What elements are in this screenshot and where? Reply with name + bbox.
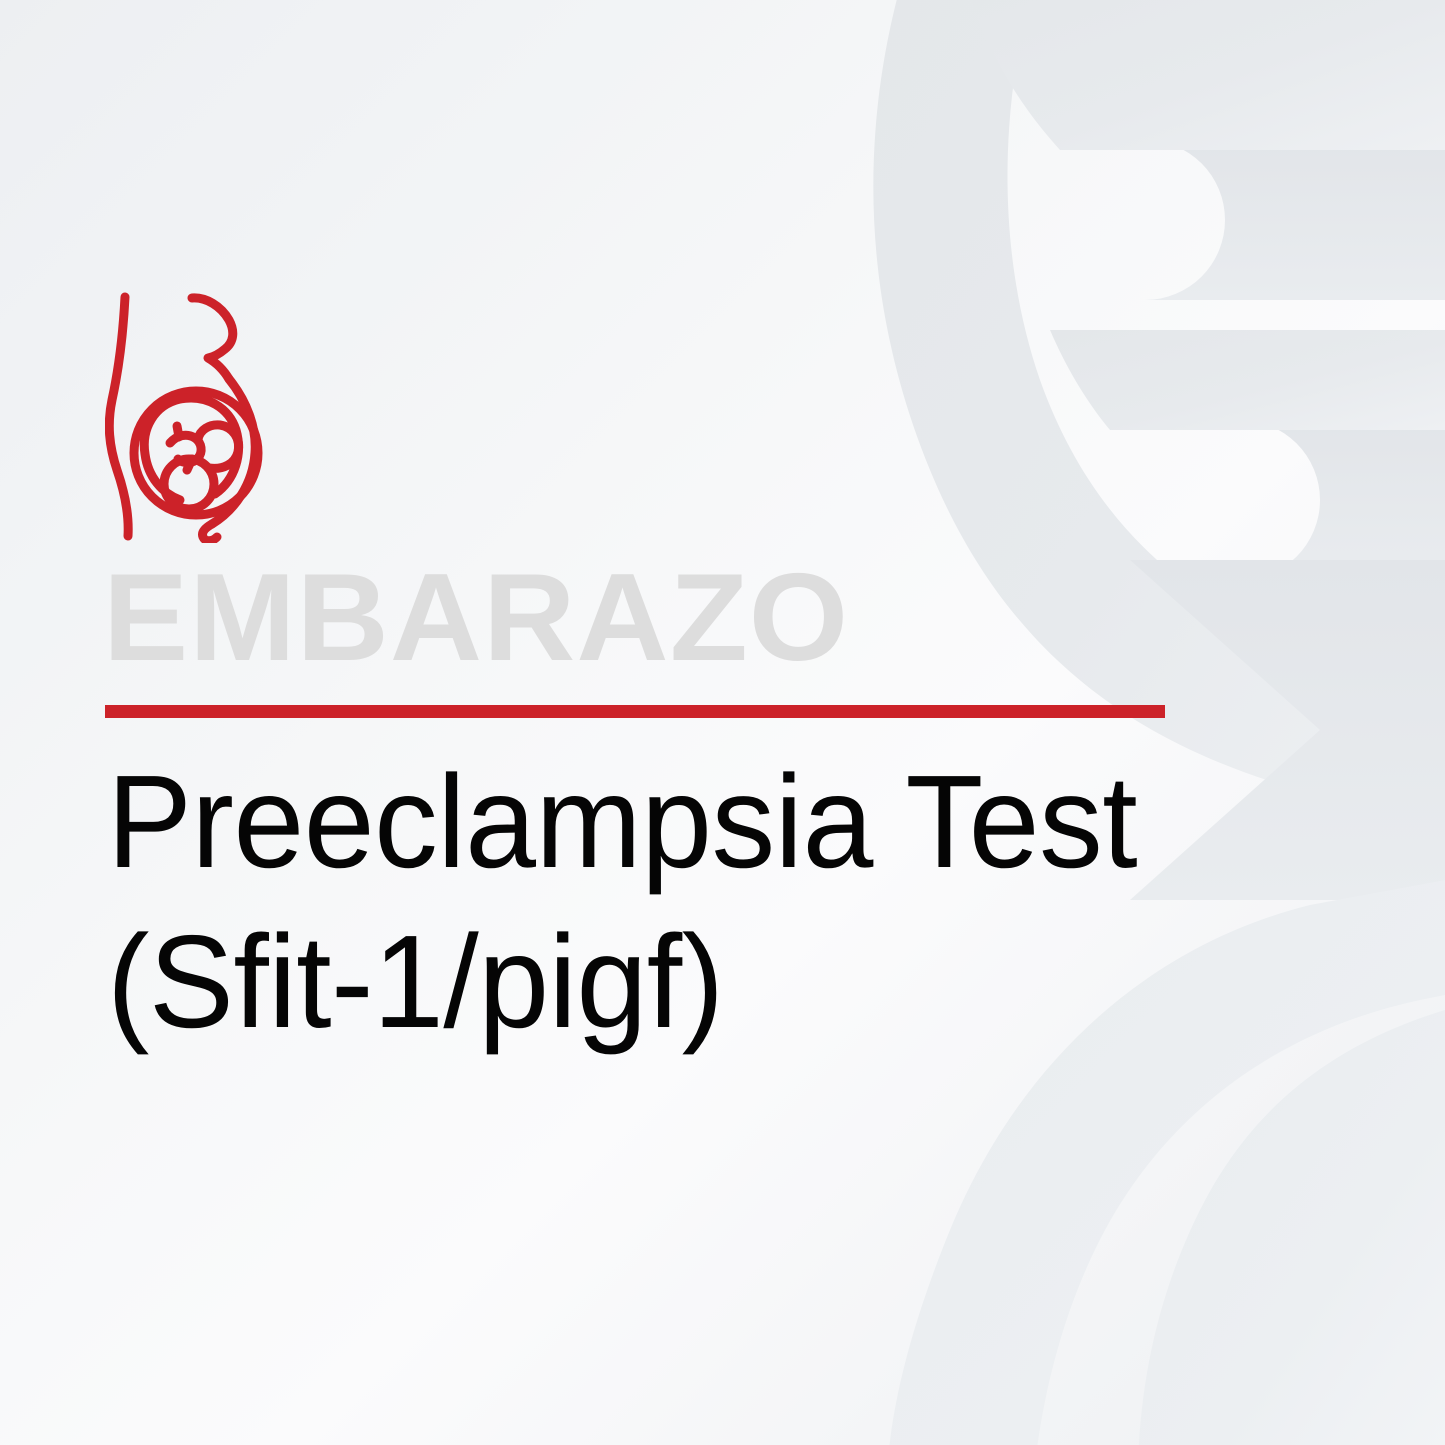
card-content: EMBARAZO Preeclampsia Test (Sfit-1/pigf) <box>105 0 1205 1445</box>
product-title-line-1: Preeclampsia Test <box>107 742 1188 902</box>
product-title: Preeclampsia Test (Sfit-1/pigf) <box>107 742 1188 1062</box>
brand-wordmark: EMBARAZO <box>103 556 849 680</box>
pregnancy-fetus-icon <box>105 288 300 543</box>
product-title-line-2: (Sfit-1/pigf) <box>107 902 1188 1062</box>
brand-divider-rule <box>105 705 1165 718</box>
product-card: EMBARAZO Preeclampsia Test (Sfit-1/pigf) <box>0 0 1445 1445</box>
